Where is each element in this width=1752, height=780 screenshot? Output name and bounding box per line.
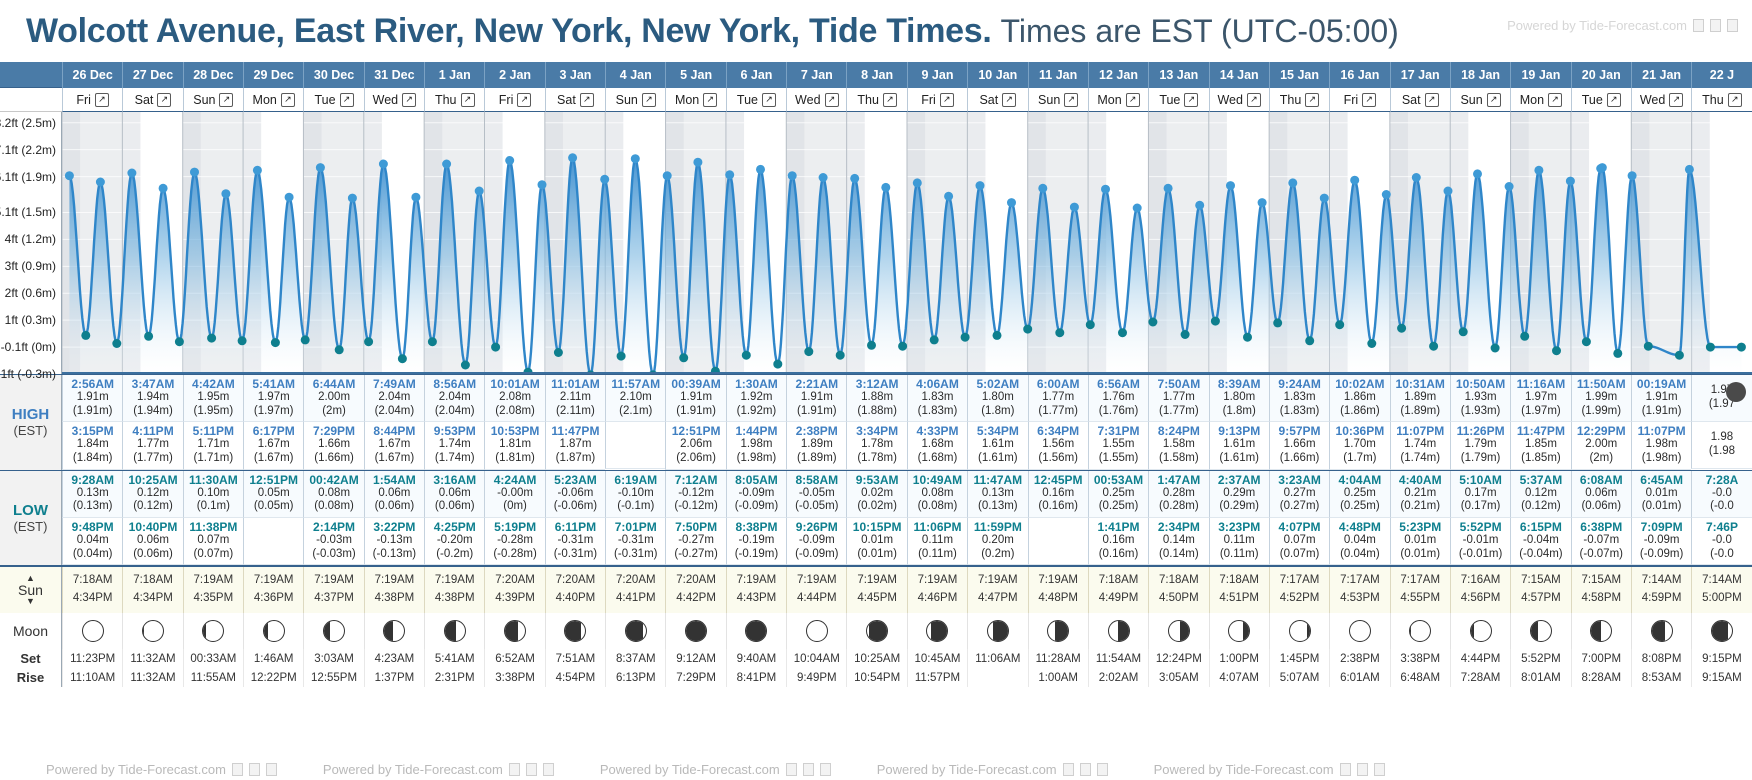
high-tide-point <box>1320 194 1329 203</box>
weekday-header-cell[interactable]: Sun↗ <box>1028 88 1088 112</box>
tide-height-alt: (1.85m) <box>1521 452 1561 466</box>
flag-chip-icon <box>526 763 537 776</box>
weekday-label: Fri <box>499 93 514 107</box>
tide-height-alt: (0.16m) <box>1099 548 1139 562</box>
tide-time: 11:50AM <box>1577 377 1626 391</box>
tide-col: 5:23AM-0.06m(-0.06m)6:11PM-0.31m(-0.31m) <box>545 471 605 566</box>
tide-height: 1.76m <box>1103 391 1135 405</box>
date-header-cell[interactable]: 31 Dec <box>364 62 424 88</box>
low-tide-cell: 9:28AM0.13m(0.13m) <box>62 471 122 518</box>
moon-phase-cell <box>786 613 846 649</box>
moon-phase-icon <box>806 620 828 642</box>
weekday-header-cell[interactable]: Mon↗ <box>1088 88 1148 112</box>
tide-time: 11:07PM <box>1638 424 1686 438</box>
high-tide-cell: 00:19AM1.91m(1.91m) <box>1631 375 1691 422</box>
tide-time: 11:47AM <box>973 473 1022 487</box>
low-tide-cell: 3:22PM-0.13m(-0.13m) <box>364 518 424 565</box>
weekday-header-cell[interactable]: Sun↗ <box>605 88 665 112</box>
expand-icon[interactable]: ↗ <box>1184 93 1198 107</box>
tide-height-alt: (0m) <box>503 500 527 514</box>
weekday-header-cell[interactable]: Tue↗ <box>1571 88 1631 112</box>
flag-chip-icon <box>1710 19 1721 32</box>
tide-height-alt: (0.27m) <box>1280 500 1320 514</box>
date-header-cell[interactable]: 10 Jan <box>967 62 1027 88</box>
sun-cell: 7:19AM4:36PM <box>243 567 303 613</box>
sunset-time: 4:40PM <box>556 590 596 608</box>
date-header-cell[interactable]: 2 Jan <box>484 62 544 88</box>
low-tide-block: LOW (EST) 9:28AM0.13m(0.13m)9:48PM0.04m(… <box>0 470 1752 566</box>
tide-height: 1.85m <box>1525 438 1557 452</box>
low-tide-point <box>398 354 407 363</box>
moonset-time: 3:03AM <box>303 649 363 668</box>
low-tide-cell: 9:48PM0.04m(0.04m) <box>62 518 122 565</box>
expand-icon[interactable]: ↗ <box>1548 93 1562 107</box>
weekday-header-cell[interactable]: Mon↗ <box>665 88 725 112</box>
low-tide-cell: 12:51PM0.05m(0.05m) <box>243 471 303 518</box>
tide-height-alt: (1.97m) <box>254 405 294 419</box>
high-tide-cell: 4:42AM1.95m(1.95m) <box>183 375 243 422</box>
expand-icon[interactable]: ↗ <box>1728 93 1742 107</box>
expand-icon[interactable]: ↗ <box>883 93 897 107</box>
date-header-cell[interactable]: 14 Jan <box>1209 62 1269 88</box>
sunrise-time: 7:18AM <box>133 572 173 590</box>
high-tide-cell: 5:41AM1.97m(1.97m) <box>243 375 303 422</box>
tide-col: 1:30AM1.92m(1.92m)1:44PM1.98m(1.98m) <box>726 375 786 470</box>
tide-time: 7:31PM <box>1098 424 1140 438</box>
tide-time: 5:23AM <box>554 473 597 487</box>
date-header-cell[interactable]: 4 Jan <box>605 62 665 88</box>
tide-height-alt: (1.68m) <box>918 452 958 466</box>
weekday-header-cell[interactable]: Sat↗ <box>122 88 182 112</box>
expand-icon[interactable]: ↗ <box>157 93 171 107</box>
sunset-time: 4:50PM <box>1159 590 1199 608</box>
date-header-cell[interactable]: 13 Jan <box>1148 62 1208 88</box>
high-tide-cell: 11:47PM1.87m(1.87m) <box>545 422 605 469</box>
high-tide-cell: 7:29PM1.66m(1.66m) <box>303 422 363 469</box>
weekday-header-cell[interactable]: Tue↗ <box>1148 88 1208 112</box>
y-axis-tick-label: 8.2ft (2.5m) <box>0 116 56 130</box>
moon-phase-icon <box>926 620 948 642</box>
weekday-header-cell[interactable]: Tue↗ <box>303 88 363 112</box>
high-tide-point <box>756 165 765 174</box>
high-tide-point <box>442 160 451 169</box>
tide-curve-svg <box>62 112 1752 374</box>
low-tide-cell: 00:42AM0.08m(0.08m) <box>303 471 363 518</box>
tide-col: 2:37AM0.29m(0.29m)3:23PM0.11m(0.11m) <box>1209 471 1269 566</box>
expand-icon[interactable]: ↗ <box>461 93 475 107</box>
expand-icon[interactable]: ↗ <box>219 93 233 107</box>
weekday-header-cell[interactable]: Sun↗ <box>183 88 243 112</box>
tide-height: -0.12m <box>678 487 714 501</box>
high-tide-point <box>1226 181 1235 190</box>
weekday-header-cell[interactable]: Wed↗ <box>1631 88 1691 112</box>
tide-height-alt: (1.77m) <box>1038 405 1078 419</box>
expand-icon[interactable]: ↗ <box>1669 93 1683 107</box>
date-header-cell[interactable]: 19 Jan <box>1510 62 1570 88</box>
date-header-cell[interactable]: 16 Jan <box>1329 62 1389 88</box>
weekday-header-cell[interactable]: Sat↗ <box>545 88 605 112</box>
moonset-time: 4:44PM <box>1450 649 1510 668</box>
tide-time: 9:26PM <box>796 520 838 534</box>
tide-time: 6:44AM <box>313 377 356 391</box>
sunrise-time: 7:15AM <box>1581 572 1621 590</box>
sunset-time: 4:36PM <box>254 590 294 608</box>
sunset-time: 4:53PM <box>1340 590 1380 608</box>
weekday-header-cell[interactable]: Wed↗ <box>1209 88 1269 112</box>
moonset-time: 10:45AM <box>907 649 967 668</box>
expand-icon[interactable]: ↗ <box>1305 93 1319 107</box>
tide-height-alt: (0.25m) <box>1099 500 1139 514</box>
tide-time: 3:23PM <box>1218 520 1260 534</box>
sun-cell: 7:15AM4:57PM <box>1510 567 1570 613</box>
weekday-header-cell[interactable]: Fri↗ <box>1329 88 1389 112</box>
tide-height: -0.31m <box>558 534 594 548</box>
tide-col: 1:54AM0.06m(0.06m)3:22PM-0.13m(-0.13m) <box>364 471 424 566</box>
tide-height-alt: (1.7m) <box>1343 452 1376 466</box>
tide-time: 00:42AM <box>309 473 358 487</box>
date-header-cell[interactable]: 9 Jan <box>907 62 967 88</box>
tide-col: 6:08AM0.06m(0.06m)6:38PM-0.07m(-0.07m) <box>1571 471 1631 566</box>
tide-height-alt: (1.98 <box>1709 445 1735 459</box>
flag-chip-icon <box>232 763 243 776</box>
watermark-unit: Powered by Tide-Forecast.com <box>323 762 554 777</box>
moonrise-time: 12:22PM <box>243 668 303 687</box>
moon-phase-icon <box>625 620 647 642</box>
current-time-marker[interactable] <box>1726 382 1746 402</box>
date-header-cell[interactable]: 26 Dec <box>62 62 122 88</box>
sunset-time: 4:49PM <box>1099 590 1139 608</box>
low-tide-cell: 7:12AM-0.12m(-0.12m) <box>665 471 725 518</box>
low-tide-cell: 00:53AM0.25m(0.25m) <box>1088 471 1148 518</box>
moonrise-time: 5:07AM <box>1269 668 1329 687</box>
low-tide-point <box>1243 333 1252 342</box>
weekday-header-cell[interactable]: Sat↗ <box>967 88 1027 112</box>
expand-icon[interactable]: ↗ <box>940 93 954 107</box>
date-header-cell[interactable]: 3 Jan <box>545 62 605 88</box>
watermark-text: Powered by Tide-Forecast.com <box>46 762 226 777</box>
low-tide-cell: 2:37AM0.29m(0.29m) <box>1209 471 1269 518</box>
tide-height-alt: (1.66m) <box>1280 452 1320 466</box>
tide-height-alt: (0.08m) <box>314 500 354 514</box>
low-tide-point <box>1055 328 1064 337</box>
high-tide-cell: 11:47PM1.85m(1.85m) <box>1510 422 1570 469</box>
moonrise-time: 11:57PM <box>907 668 967 687</box>
expand-icon[interactable]: ↗ <box>1607 93 1621 107</box>
date-header-cell[interactable]: 22 J <box>1691 62 1751 88</box>
tide-height: 0.21m <box>1404 487 1436 501</box>
moon-phase-icon <box>1228 620 1250 642</box>
tide-time: 12:45PM <box>1034 473 1083 487</box>
high-tide-point <box>475 187 484 196</box>
date-header-cell[interactable]: 29 Dec <box>243 62 303 88</box>
high-tide-cell: 6:34PM1.56m(1.56m) <box>1028 422 1088 469</box>
date-header-cell[interactable]: 1 Jan <box>424 62 484 88</box>
weekday-label: Sun <box>616 93 638 107</box>
tide-height-alt: (0.04m) <box>73 548 113 562</box>
expand-icon[interactable]: ↗ <box>1064 93 1078 107</box>
moonrise-time: 8:41PM <box>726 668 786 687</box>
weekday-header-cell[interactable]: Thu↗ <box>1269 88 1329 112</box>
low-tide-point <box>428 337 437 346</box>
date-header-cell[interactable]: 30 Dec <box>303 62 363 88</box>
weekday-header-cell[interactable]: Tue↗ <box>726 88 786 112</box>
tide-time: 10:01AM <box>490 377 539 391</box>
high-tide-cell: 10:50AM1.93m(1.93m) <box>1450 375 1510 422</box>
weekday-header-cell[interactable]: Fri↗ <box>62 88 122 112</box>
tide-height-alt: (1.61m) <box>1219 452 1259 466</box>
expand-icon[interactable]: ↗ <box>825 93 839 107</box>
date-header-cell[interactable]: 12 Jan <box>1088 62 1148 88</box>
high-tide-cell: 3:12AM1.88m(1.88m) <box>846 375 906 422</box>
expand-icon[interactable]: ↗ <box>402 93 416 107</box>
moon-phase-icon <box>323 620 345 642</box>
weekday-label: Fri <box>921 93 936 107</box>
low-tide-cell: 2:14PM-0.03m(-0.03m) <box>303 518 363 565</box>
tide-height-alt: (1.99m) <box>1581 405 1621 419</box>
sunset-time: 4:42PM <box>676 590 716 608</box>
expand-icon[interactable]: ↗ <box>1362 93 1376 107</box>
tide-col: 5:37AM0.12m(0.12m)6:15PM-0.04m(-0.04m) <box>1510 471 1570 566</box>
low-tide-point <box>1675 351 1684 360</box>
sunset-time: 4:51PM <box>1219 590 1259 608</box>
sunset-time: 4:41PM <box>616 590 656 608</box>
tide-height-alt: (1.79m) <box>1461 452 1501 466</box>
weekday-label: Wed <box>1217 93 1242 107</box>
weekday-header-cell[interactable]: Mon↗ <box>243 88 303 112</box>
high-tide-point <box>1382 190 1391 199</box>
weekday-header-cell[interactable]: Thu↗ <box>846 88 906 112</box>
low-tide-cell: 4:25PM-0.20m(-0.2m) <box>424 518 484 565</box>
date-header-cell[interactable]: 8 Jan <box>846 62 906 88</box>
tide-col: 00:19AM1.91m(1.91m)11:07PM1.98m(1.98m) <box>1631 375 1691 470</box>
high-tide-point <box>1505 182 1514 191</box>
tide-chart: 8.2ft (2.5m)7.1ft (2.2m)6.1ft (1.9m)5.1f… <box>0 112 1752 374</box>
low-tide-cell: 4:48PM0.04m(0.04m) <box>1329 518 1389 565</box>
tide-height: 1.74m <box>1404 438 1436 452</box>
high-tide-cell: 11:07PM1.98m(1.98m) <box>1631 422 1691 469</box>
tide-time: 2:38PM <box>796 424 838 438</box>
expand-icon[interactable]: ↗ <box>95 93 109 107</box>
low-tide-cell: 1:47AM0.28m(0.28m) <box>1148 471 1208 518</box>
date-header-cell[interactable]: 6 Jan <box>726 62 786 88</box>
moonset-time: 11:32AM <box>122 649 182 668</box>
low-tide-cell: 4:24AM-0.00m(0m) <box>484 471 544 518</box>
low-tide-cell: 5:23AM-0.06m(-0.06m) <box>545 471 605 518</box>
expand-icon[interactable]: ↗ <box>1002 93 1016 107</box>
weekday-header-cell[interactable]: Thu↗ <box>1691 88 1751 112</box>
header-corner <box>0 62 62 88</box>
tide-height-alt: (-0.31m) <box>554 548 597 562</box>
date-header-cell[interactable]: 28 Dec <box>183 62 243 88</box>
sunset-time: 5:00PM <box>1702 590 1742 608</box>
tide-height-alt: (1.61m) <box>978 452 1018 466</box>
weekday-header-cell[interactable]: Wed↗ <box>786 88 846 112</box>
moon-phase-cell <box>1691 613 1751 649</box>
tide-col: 6:00AM1.77m(1.77m)6:34PM1.56m(1.56m) <box>1028 375 1088 470</box>
tide-height-alt: (0.02m) <box>857 500 897 514</box>
tide-height: 0.02m <box>861 487 893 501</box>
tide-height-alt: (2.04m) <box>435 405 475 419</box>
flag-chip-icon <box>1374 763 1385 776</box>
tide-height-alt: (-0.19m) <box>735 548 778 562</box>
expand-icon[interactable]: ↗ <box>703 93 717 107</box>
sunset-time: 4:58PM <box>1581 590 1621 608</box>
tide-col: 11:50AM1.99m(1.99m)12:29PM2.00m(2m) <box>1571 375 1631 470</box>
tide-time: 2:56AM <box>71 377 114 391</box>
tide-height-alt: (0.13m) <box>73 500 113 514</box>
expand-icon[interactable]: ↗ <box>517 93 531 107</box>
date-header-cell[interactable]: 27 Dec <box>122 62 182 88</box>
tide-time: 3:34PM <box>856 424 898 438</box>
sun-cell: 7:19AM4:38PM <box>364 567 424 613</box>
tide-height: -0.06m <box>558 487 594 501</box>
low-tide-point <box>554 348 563 357</box>
weekday-label: Tue <box>1159 93 1180 107</box>
low-tide-cell: 6:11PM-0.31m(-0.31m) <box>545 518 605 565</box>
moon-phase-cell <box>364 613 424 649</box>
weekday-label: Wed <box>373 93 398 107</box>
low-tide-cell: 5:37AM0.12m(0.12m) <box>1510 471 1570 518</box>
expand-icon[interactable]: ↗ <box>1126 93 1140 107</box>
tide-height: 1.77m <box>1163 391 1195 405</box>
moonset-time: 2:38PM <box>1329 649 1389 668</box>
sun-cell: 7:18AM4:34PM <box>122 567 182 613</box>
moonrise-time: 6:01AM <box>1329 668 1389 687</box>
tide-height-alt: (1.67m) <box>254 452 294 466</box>
date-header-cell[interactable]: 17 Jan <box>1390 62 1450 88</box>
weekday-label: Tue <box>737 93 758 107</box>
high-tide-cell: 12:51PM2.06m(2.06m) <box>665 422 725 469</box>
y-axis-tick-label: 7.1ft (2.2m) <box>0 143 56 157</box>
weekday-header-cell[interactable]: Wed↗ <box>364 88 424 112</box>
tide-height: -0.28m <box>497 534 533 548</box>
tide-time: 11:38PM <box>189 520 237 534</box>
tide-time: 11:47PM <box>551 424 599 438</box>
tide-height: 1.70m <box>1344 438 1376 452</box>
low-tide-point <box>993 331 1002 340</box>
flag-chip-icon <box>1693 19 1704 32</box>
tide-height: 1.93m <box>1465 391 1497 405</box>
watermark-top: Powered by Tide-Forecast.com <box>1507 18 1738 33</box>
tide-time: 4:42AM <box>192 377 235 391</box>
low-tide-point <box>144 332 153 341</box>
tide-height-alt: (0.07m) <box>1280 548 1320 562</box>
tide-col: 8:05AM-0.09m(-0.09m)8:38PM-0.19m(-0.19m) <box>726 471 786 566</box>
weekday-header-cell[interactable]: Mon↗ <box>1510 88 1570 112</box>
expand-icon[interactable]: ↗ <box>580 93 594 107</box>
tide-time: 6:34PM <box>1037 424 1079 438</box>
weekday-header-cell[interactable]: Fri↗ <box>484 88 544 112</box>
tide-time: 4:06AM <box>916 377 959 391</box>
date-header-cell[interactable]: 7 Jan <box>786 62 846 88</box>
weekday-header-cell[interactable]: Thu↗ <box>424 88 484 112</box>
tide-height-alt: (-0.05m) <box>795 500 838 514</box>
tide-height-alt: (1.89m) <box>797 452 837 466</box>
tide-height: 2.11m <box>560 391 591 405</box>
date-header-cell[interactable]: 11 Jan <box>1028 62 1088 88</box>
tide-height-alt: (1.87m) <box>556 452 596 466</box>
tide-height: 1.84m <box>77 438 109 452</box>
moonset-time: 11:06AM <box>967 649 1027 668</box>
tide-height-alt: (2.06m) <box>676 452 716 466</box>
sunrise-time: 7:19AM <box>194 572 234 590</box>
tide-height-alt: (0.11m) <box>1220 548 1259 562</box>
sunrise-time: 7:20AM <box>616 572 656 590</box>
moonrise-time: 9:49PM <box>786 668 846 687</box>
tide-height: 0.13m <box>77 487 109 501</box>
expand-icon[interactable]: ↗ <box>1425 93 1439 107</box>
high-tide-cell: 9:13PM1.61m(1.61m) <box>1209 422 1269 469</box>
watermark-text: Powered by Tide-Forecast.com <box>877 762 1057 777</box>
date-header-cell[interactable]: 20 Jan <box>1571 62 1631 88</box>
tide-height: 2.00m <box>318 391 350 405</box>
tide-height: 1.71m <box>197 438 229 452</box>
sun-cell: 7:14AM4:59PM <box>1631 567 1691 613</box>
expand-icon[interactable]: ↗ <box>642 93 656 107</box>
sunrise-time: 7:18AM <box>1099 572 1139 590</box>
moonset-time: 8:08PM <box>1631 649 1691 668</box>
sun-label: ▲ Sun ▼ <box>0 567 62 613</box>
sun-cell: 7:18AM4:50PM <box>1148 567 1208 613</box>
high-tide-cell: 11:57AM2.10m(2.1m) <box>605 375 665 422</box>
tide-time: 10:53PM <box>491 424 540 438</box>
tide-height: 0.04m <box>1344 534 1376 548</box>
tide-time: 5:23PM <box>1399 520 1441 534</box>
tide-time: 10:15PM <box>853 520 902 534</box>
tide-time: 7:28A <box>1706 473 1739 487</box>
high-tide-cell: 8:56AM2.04m(2.04m) <box>424 375 484 422</box>
date-header-cell[interactable]: 15 Jan <box>1269 62 1329 88</box>
expand-icon[interactable]: ↗ <box>762 93 776 107</box>
tide-height-alt: (1.55m) <box>1099 452 1139 466</box>
moon-phase-icon <box>1470 620 1492 642</box>
tide-col: 8:58AM-0.05m(-0.05m)9:26PM-0.09m(-0.09m) <box>786 471 846 566</box>
moon-phase-icon <box>987 620 1009 642</box>
moon-phase-icon <box>1409 620 1431 642</box>
high-tide-point <box>96 178 105 187</box>
moonrise-time: 10:54PM <box>846 668 906 687</box>
low-tide-point <box>491 343 500 352</box>
tide-height: 1.88m <box>861 391 893 405</box>
tide-height: 0.04m <box>77 534 109 548</box>
tide-time: 4:33PM <box>916 424 958 438</box>
tide-col: 12:45PM0.16m(0.16m) <box>1028 471 1088 566</box>
weekday-header-cell[interactable]: Fri↗ <box>907 88 967 112</box>
expand-icon[interactable]: ↗ <box>281 93 295 107</box>
tide-time: 1:41PM <box>1098 520 1140 534</box>
high-tide-cell: 4:06AM1.83m(1.83m) <box>907 375 967 422</box>
high-tide-cell: 9:24AM1.83m(1.83m) <box>1269 375 1329 422</box>
date-header-cell[interactable]: 21 Jan <box>1631 62 1691 88</box>
weekday-header-cell[interactable]: Sat↗ <box>1390 88 1450 112</box>
tide-col: 2:56AM1.91m(1.91m)3:15PM1.84m(1.84m) <box>62 375 122 470</box>
tide-height-alt: (1.71m) <box>194 452 234 466</box>
sunrise-time: 7:19AM <box>314 572 354 590</box>
weekday-header-cell[interactable]: Sun↗ <box>1450 88 1510 112</box>
tide-height-alt: (1.91m) <box>73 405 113 419</box>
tide-height-alt: (1.81m) <box>495 452 535 466</box>
date-header-cell[interactable]: 18 Jan <box>1450 62 1510 88</box>
low-tide-point <box>1520 332 1529 341</box>
expand-icon[interactable]: ↗ <box>1247 93 1261 107</box>
tide-height: 1.77m <box>137 438 169 452</box>
tide-col: 11:30AM0.10m(0.1m)11:38PM0.07m(0.07m) <box>183 471 243 566</box>
sunset-time: 4:55PM <box>1400 590 1440 608</box>
date-header-cell[interactable]: 5 Jan <box>665 62 725 88</box>
tide-height-alt: (1.93m) <box>1461 405 1501 419</box>
expand-icon[interactable]: ↗ <box>340 93 354 107</box>
expand-icon[interactable]: ↗ <box>1487 93 1501 107</box>
